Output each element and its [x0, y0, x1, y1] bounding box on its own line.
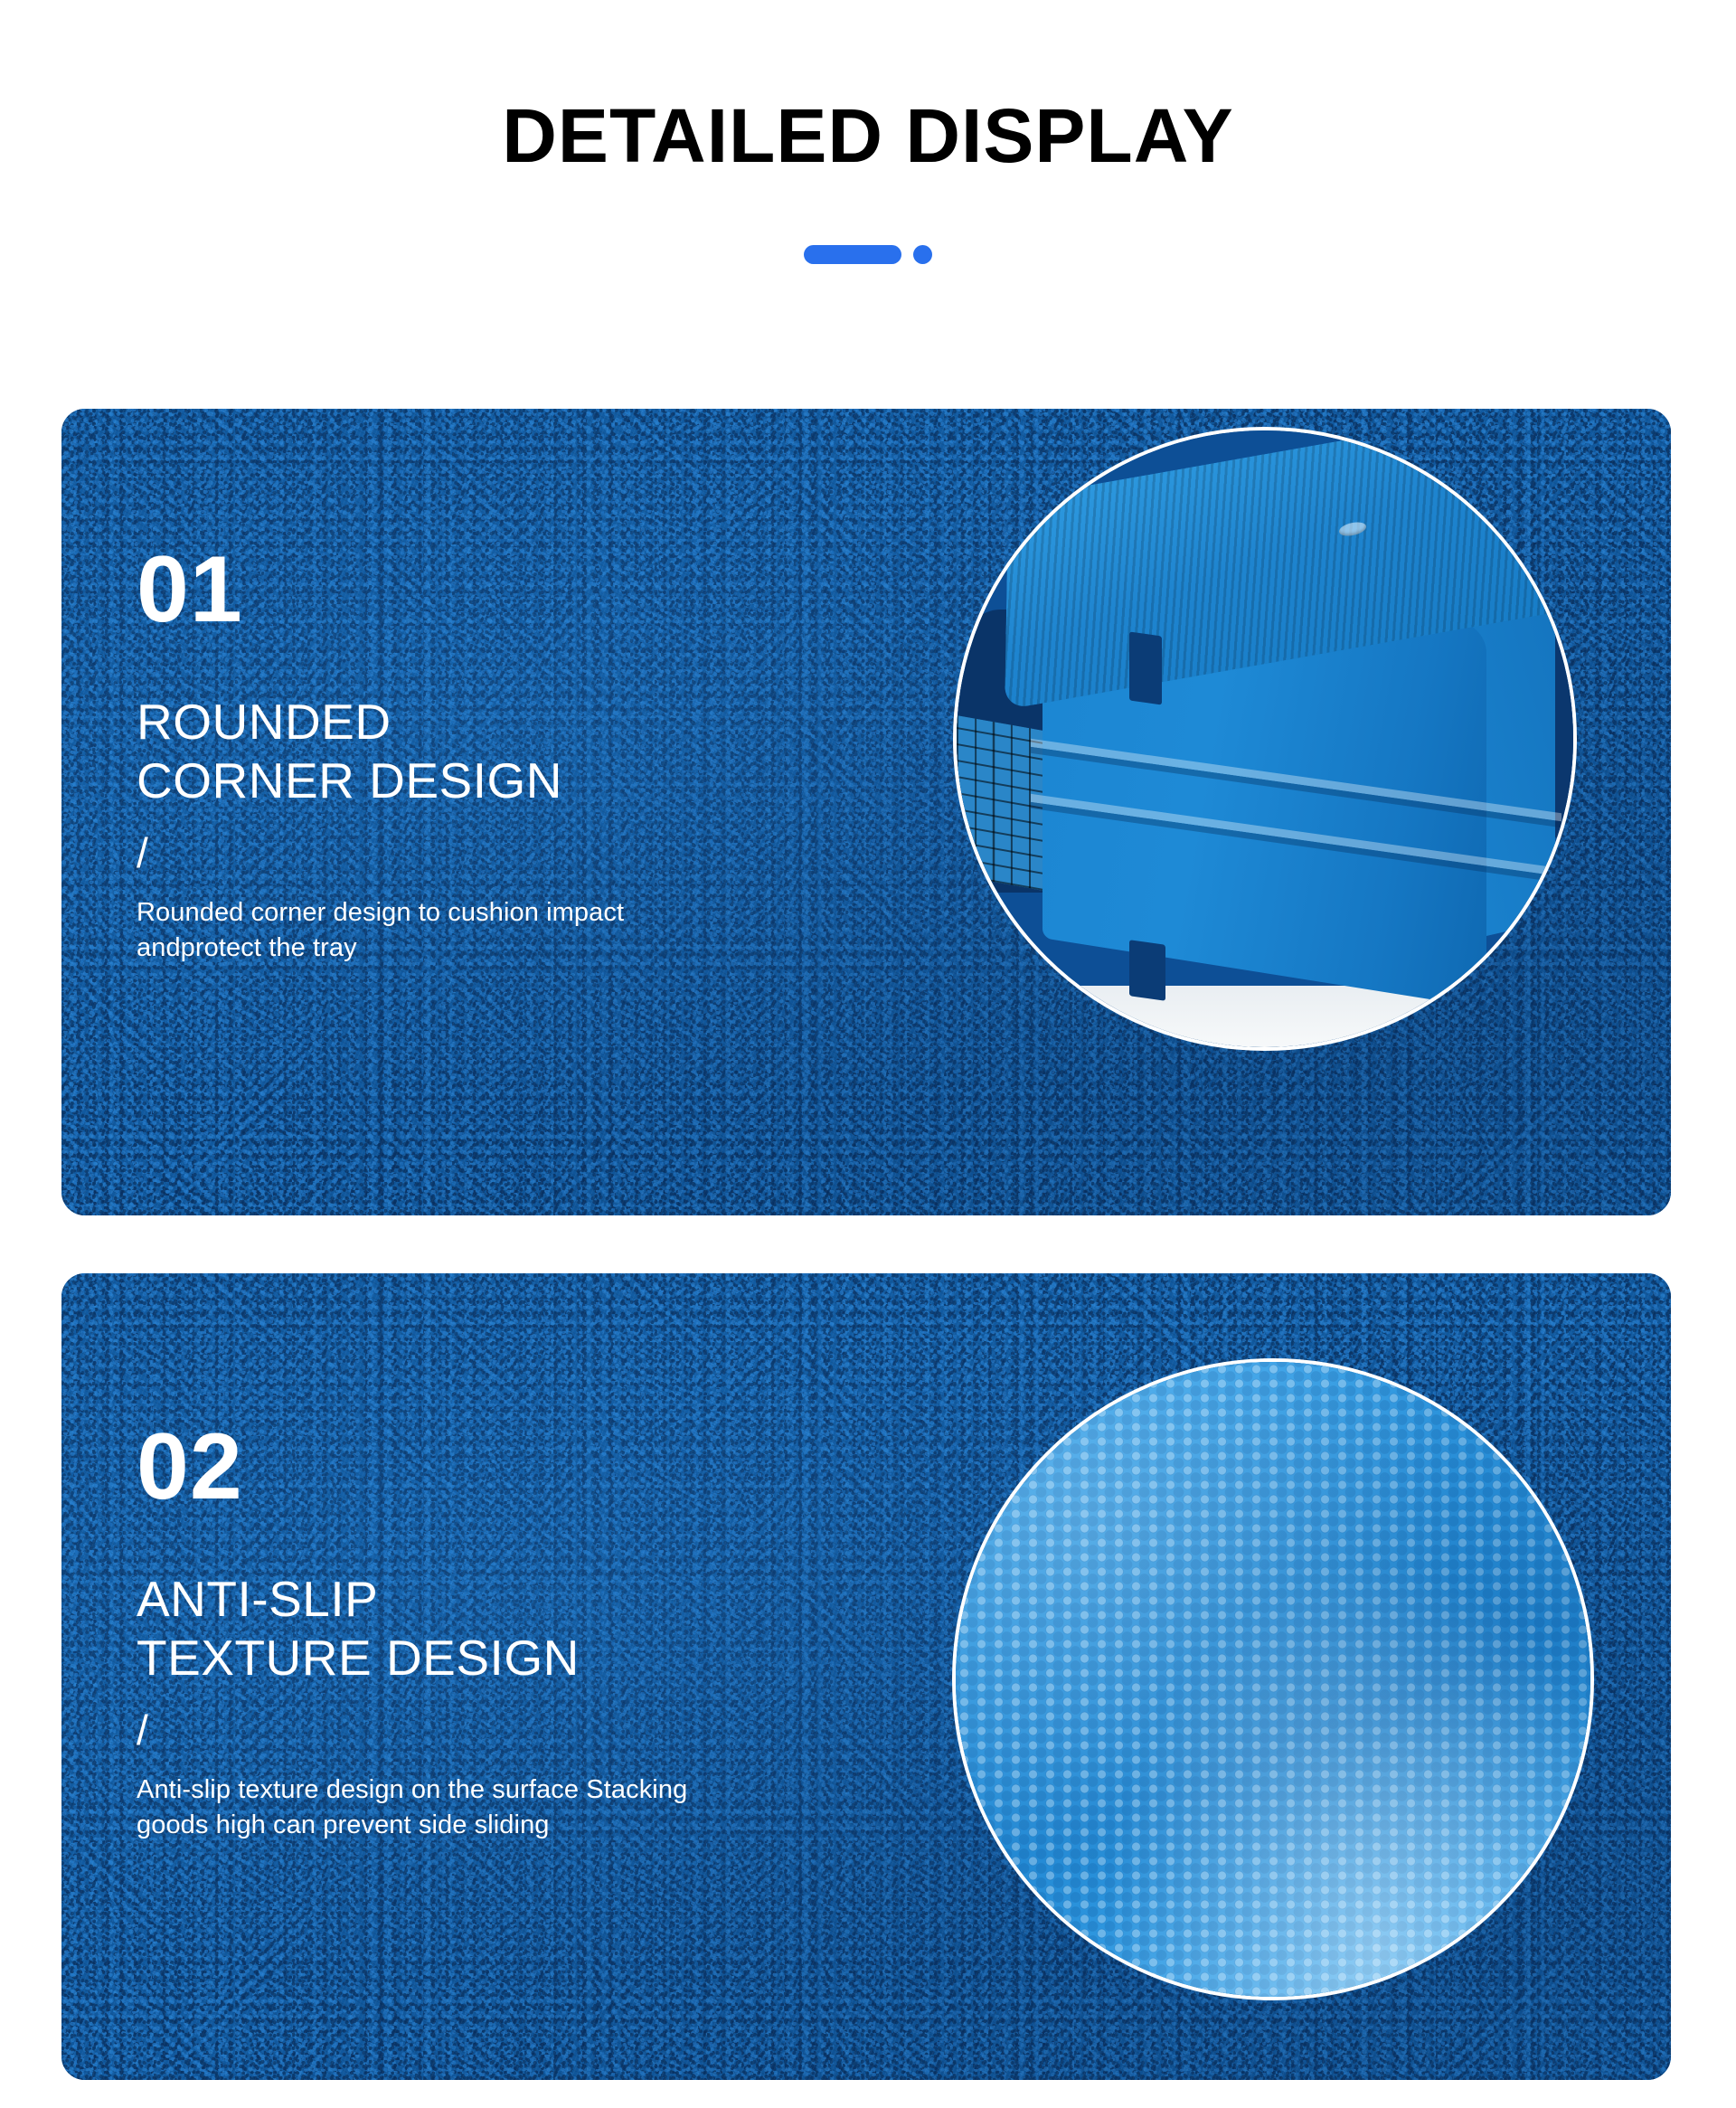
- feature-card-02: 02 ANTI-SLIP TEXTURE DESIGN / Anti-slip …: [61, 1273, 1671, 2080]
- card-text-block: 01 ROUNDED CORNER DESIGN / Rounded corne…: [137, 543, 878, 966]
- card-heading: ANTI-SLIP TEXTURE DESIGN: [137, 1570, 878, 1687]
- page-header: DETAILED DISPLAY: [0, 0, 1736, 298]
- card-number: 01: [137, 543, 878, 637]
- card-slash-separator: /: [137, 832, 878, 874]
- rounded-corner-pallet-photo: [953, 427, 1577, 1051]
- divider-bar-icon: [804, 245, 901, 264]
- anti-slip-surface-image: [956, 1362, 1590, 1997]
- page-title: DETAILED DISPLAY: [0, 98, 1736, 174]
- card-body-text: Rounded corner design to cushion impact …: [137, 895, 788, 966]
- pallet-image: [957, 430, 1573, 1047]
- card-number: 02: [137, 1420, 878, 1514]
- divider-dot-icon: [913, 245, 932, 264]
- title-divider: [0, 242, 1736, 266]
- pallet-slot-lower: [1129, 940, 1165, 1001]
- card-text-block: 02 ANTI-SLIP TEXTURE DESIGN / Anti-slip …: [137, 1420, 878, 1843]
- feature-card-01: 01 ROUNDED CORNER DESIGN / Rounded corne…: [61, 409, 1671, 1215]
- card-body-text: Anti-slip texture design on the surface …: [137, 1772, 788, 1843]
- card-heading: ROUNDED CORNER DESIGN: [137, 693, 878, 810]
- anti-slip-texture-photo: [952, 1358, 1594, 2000]
- card-slash-separator: /: [137, 1709, 878, 1751]
- pallet-slot-upper: [1129, 632, 1162, 705]
